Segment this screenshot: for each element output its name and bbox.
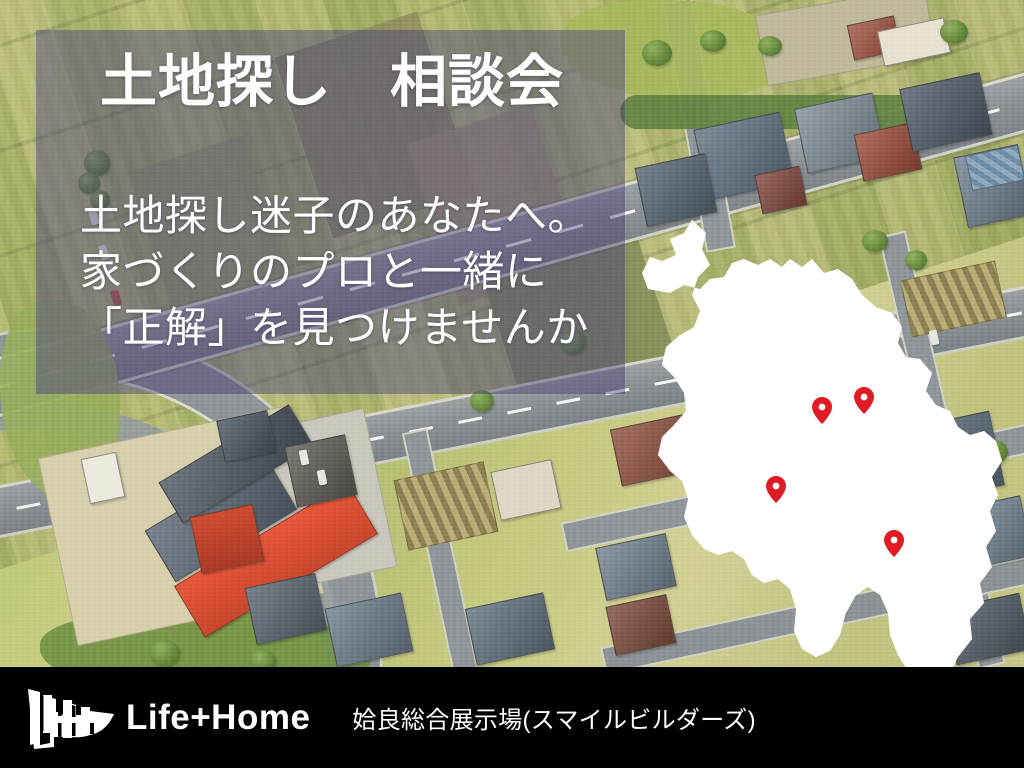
subtitle-line-3: 「正解」を見つけませんか <box>80 300 590 356</box>
tree <box>905 250 927 270</box>
map-pin-3[interactable] <box>766 476 786 503</box>
tree <box>642 40 672 66</box>
brand-name: Life+Home <box>126 698 310 738</box>
tree <box>700 30 726 52</box>
footer-bar: Life+Home 姶良総合展示場(スマイルビルダーズ) <box>0 667 1024 768</box>
subtitle-block: 土地探し迷子のあなたへ。 家づくりのプロと一緒に 「正解」を見つけませんか <box>80 188 590 356</box>
subtitle-line-1: 土地探し迷子のあなたへ。 <box>80 188 590 244</box>
subtitle-line-2: 家づくりのプロと一緒に <box>80 244 590 300</box>
tree <box>980 440 1008 464</box>
branch-name: 姶良総合展示場(スマイルビルダーズ) <box>352 700 755 735</box>
pennant-flag-logo-icon <box>24 687 116 749</box>
tree <box>150 640 180 666</box>
slide-canvas: 土地探し 相談会 土地探し迷子のあなたへ。 家づくりのプロと一緒に 「正解」を見… <box>0 0 1024 768</box>
map-pin-2[interactable] <box>854 387 874 414</box>
tree <box>940 20 968 44</box>
map-pin-1[interactable] <box>812 397 832 424</box>
page-title: 土地探し 相談会 <box>100 52 564 114</box>
tree <box>758 36 782 56</box>
map-pin-4[interactable] <box>884 530 904 557</box>
tree <box>820 600 846 622</box>
tree <box>862 230 888 252</box>
